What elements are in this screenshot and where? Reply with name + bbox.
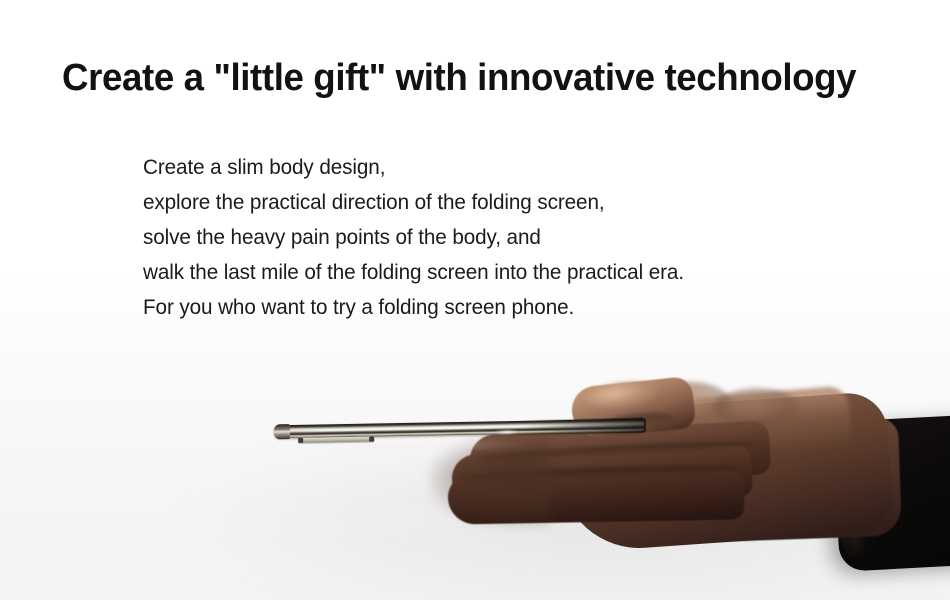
body-line-5: For you who want to try a folding screen… (143, 290, 892, 325)
product-photo (0, 330, 950, 600)
phone-shadowed-end (524, 418, 646, 435)
phone-hinge-fold (274, 424, 290, 439)
phone-side-button (298, 437, 374, 443)
body-copy: Create a slim body design, explore the p… (143, 150, 903, 325)
body-line-1: Create a slim body design, (143, 150, 892, 185)
body-line-3: solve the heavy pain points of the body,… (143, 220, 892, 255)
body-line-4: walk the last mile of the folding screen… (143, 255, 892, 290)
page-title: Create a "little gift" with innovative t… (62, 57, 892, 100)
body-line-2: explore the practical direction of the f… (143, 185, 892, 220)
promo-banner: Create a "little gift" with innovative t… (0, 0, 950, 600)
